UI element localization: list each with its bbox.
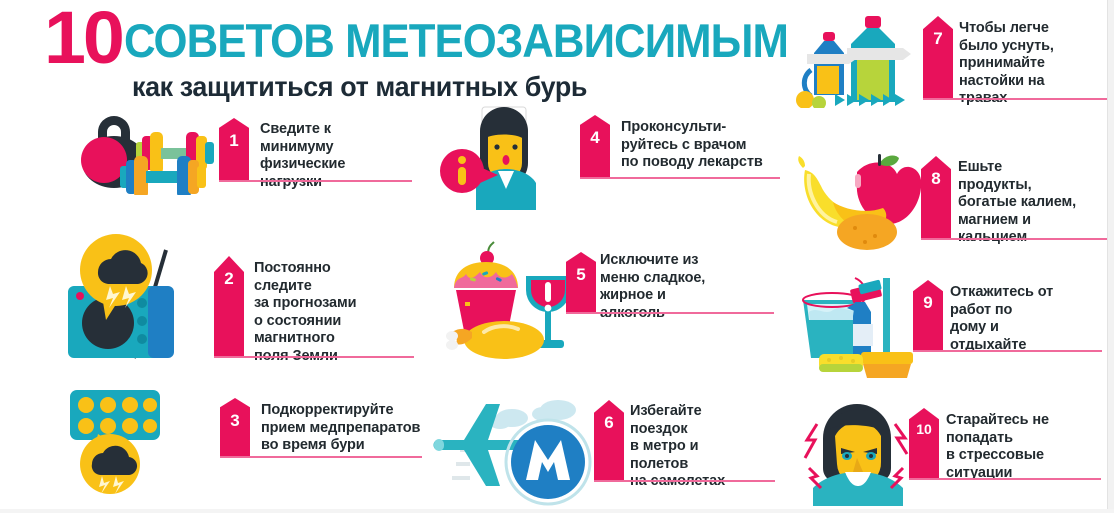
tip-10-rule [909, 478, 1101, 480]
tip-2-text: Постоянно следите за прогнозами о состоя… [254, 260, 414, 365]
tip-7-number: 7 [923, 16, 953, 98]
tip-6-number: 6 [594, 400, 624, 480]
tip-2-rule [214, 356, 414, 358]
fruits-vegetables-icon [795, 148, 925, 253]
header-title-row: 10 СОВЕТОВ МЕТЕОЗАВИСИМЫМ [44, 6, 764, 70]
tip-2-number: 2 [214, 256, 244, 356]
tip-9-text: Откажитесь от работ по дому и отдыхайте [950, 284, 1110, 354]
tip-8-text: Ешьте продукты, богатые калием, магнием … [958, 159, 1114, 247]
stressed-woman-icon [795, 396, 925, 506]
bottom-page-edge [0, 509, 1114, 513]
tip-6-text: Избегайте поездок в метро и полетов на с… [630, 403, 780, 491]
airplane-metro-icon [430, 392, 610, 507]
tip-4: 4 Проконсульти- руйтесь с врачом по пово… [440, 105, 780, 210]
tip-8-number: 8 [921, 156, 951, 238]
tip-5-rule [566, 312, 774, 314]
tip-3: 3 Подкорректируйте прием медпрепаратов в… [62, 386, 422, 496]
header-subtitle: как защититься от магнитных бурь [132, 72, 739, 102]
tip-2: 2 Постоянно следите за прогнозами о сост… [62, 228, 412, 363]
tip-3-number: 3 [220, 398, 250, 456]
pills-storm-icon [62, 386, 192, 496]
nurse-info-icon [440, 105, 575, 210]
tip-4-text: Проконсульти- руйтесь с врачом по поводу… [621, 119, 791, 172]
tip-5-number: 5 [566, 252, 596, 314]
cleaning-supplies-icon [795, 272, 925, 380]
tip-6-rule [594, 480, 775, 482]
tip-5: 5 Исключите из меню сладкое, жирное и ал… [432, 240, 772, 360]
tip-7: 7 Чтобы легче было уснуть, принимайте на… [795, 8, 1114, 108]
tip-9-rule [913, 350, 1102, 352]
herbal-tincture-bottles-icon [795, 8, 925, 108]
tip-10-text: Старайтесь не попадать в стрессовые ситу… [946, 412, 1111, 482]
tip-4-number: 4 [580, 115, 610, 177]
tip-8-rule [921, 238, 1114, 240]
page-header: 10 СОВЕТОВ МЕТЕОЗАВИСИМЫМ как защититься… [44, 6, 764, 106]
tip-10: 10 Старайтесь не попадать в стрессовые с… [795, 396, 1114, 506]
tip-9-number: 9 [913, 280, 943, 350]
tip-8: 8 Ешьте продукты, богатые калием, магние… [795, 148, 1114, 253]
tip-7-text: Чтобы легче было уснуть, принимайте наст… [959, 20, 1109, 108]
tip-7-rule [923, 98, 1114, 100]
right-page-edge [1107, 0, 1114, 513]
tip-9: 9 Откажитесь от работ по дому и отдыхайт… [795, 272, 1114, 380]
tip-1-rule [219, 180, 412, 182]
tip-3-text: Подкорректируйте прием медпрепаратов во … [261, 402, 441, 455]
header-title: СОВЕТОВ МЕТЕОЗАВИСИМЫМ [124, 16, 788, 66]
radio-storm-icon [62, 228, 212, 363]
infographic-canvas: 10 СОВЕТОВ МЕТЕОЗАВИСИМЫМ как защититься… [0, 0, 1114, 513]
tip-6: 6 Избегайте поездок в метро и полетов на… [430, 392, 775, 507]
header-number: 10 [44, 6, 122, 70]
kettlebell-dumbbells-icon [62, 110, 222, 195]
tip-1-number: 1 [219, 118, 249, 180]
tip-3-rule [220, 456, 422, 458]
tip-4-rule [580, 177, 780, 179]
tip-10-number: 10 [909, 408, 939, 478]
tip-1: 1 Сведите к минимуму физические нагрузки [62, 110, 412, 205]
